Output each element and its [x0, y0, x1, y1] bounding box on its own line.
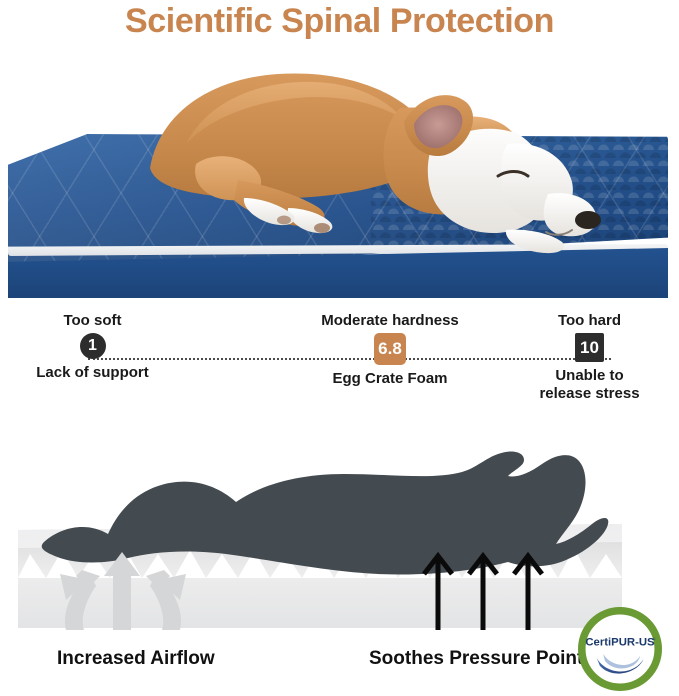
foam-cross-section-diagram	[0, 430, 679, 630]
badge-brand-text: CertiPUR-US	[585, 637, 655, 649]
scale-point-too-soft: Too soft 1 Lack of support	[10, 312, 175, 382]
scale-middle-top-label: Moderate hardness	[290, 312, 490, 329]
scale-marker-6-8: 6.8	[374, 333, 406, 365]
corgi-dog-illustration	[0, 48, 679, 298]
badge-registered-mark: ®	[653, 638, 656, 642]
page-title: Scientific Spinal Protection	[0, 2, 679, 41]
scale-right-top-label: Too hard	[500, 312, 679, 329]
scale-point-moderate: Moderate hardness 6.8 Egg Crate Foam	[290, 312, 490, 388]
hero-product-photo	[0, 48, 679, 298]
scale-marker-1: 1	[80, 333, 106, 359]
hardness-scale: Too soft 1 Lack of support Moderate hard…	[0, 312, 679, 422]
label-soothes-pressure-points: Soothes Pressure Points	[369, 648, 594, 670]
foam-base-slab	[18, 578, 622, 628]
scale-marker-10: 10	[575, 333, 604, 362]
scale-point-too-hard: Too hard 10 Unable to release stress	[500, 312, 679, 402]
scale-left-bottom-label: Lack of support	[10, 364, 175, 382]
certipur-us-badge: CONTAINS CERTIFIED FLEXIBLE POLYURETHANE…	[578, 607, 662, 691]
scale-left-top-label: Too soft	[10, 312, 175, 329]
scale-right-bottom-line1: Unable to	[500, 367, 679, 385]
scale-right-bottom-line2: release stress	[500, 385, 679, 403]
scale-right-bottom-label: Unable to release stress	[500, 367, 679, 402]
scale-middle-bottom-label: Egg Crate Foam	[290, 370, 490, 388]
dog-silhouette	[42, 452, 609, 575]
label-increased-airflow: Increased Airflow	[57, 648, 215, 670]
